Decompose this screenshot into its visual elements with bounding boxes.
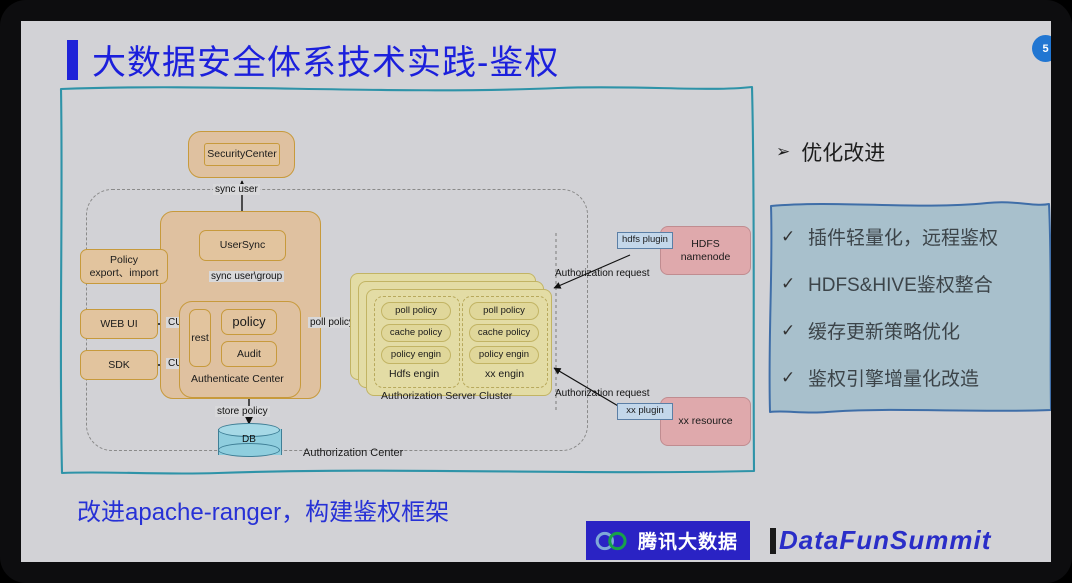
xx-engine-item-2: policy engin <box>469 346 539 364</box>
sdk-box: SDK <box>80 350 158 380</box>
check-icon: ✓ <box>781 227 808 247</box>
hdfs-engine-item-0: poll policy <box>381 302 451 320</box>
datafunsummit-text: DataFunSummit <box>779 525 991 556</box>
edge-label-poll-policy: poll policy <box>308 317 356 328</box>
xx-engine-item-1: cache policy <box>469 324 539 342</box>
hdfs-namenode-line2: namenode <box>681 251 731 263</box>
db-bottom <box>218 443 280 457</box>
branding-row: 腾讯大数据 DataFunSummit <box>586 521 991 560</box>
edge-label-sync-user-group: sync user\group <box>209 271 284 282</box>
page-title: 大数据安全体系技术实践-鉴权 <box>67 35 559 84</box>
policy-export-import-box: Policy export、import <box>80 249 168 284</box>
infinity-icon <box>594 530 630 552</box>
hdfs-engine-label: Hdfs engin <box>389 368 439 380</box>
right-panel-heading: ➢ 优化改进 <box>776 137 885 167</box>
slide-frame: 大数据安全体系技术实践-鉴权 5 Authorization Center Se… <box>0 0 1072 583</box>
edge-label-auth-request-bottom: Authorization request <box>553 388 652 399</box>
bullet-box: ✓ 插件轻量化，远程鉴权 ✓ HDFS&HIVE鉴权整合 ✓ 缓存更新策略优化 … <box>767 199 1051 414</box>
hdfs-namenode-line1: HDFS <box>691 238 720 250</box>
edge-label-sync-user: sync user <box>213 184 260 195</box>
audit-box: Audit <box>221 341 277 367</box>
user-sync-box: UserSync <box>199 230 286 261</box>
authenticate-center-label: Authenticate Center <box>191 373 284 385</box>
web-ui-box: WEB UI <box>80 309 158 339</box>
bullet-label: HDFS&HIVE鉴权整合 <box>808 270 993 297</box>
hdfs-namenode-box: HDFS namenode <box>660 226 751 275</box>
list-item: ✓ 缓存更新策略优化 <box>767 307 1051 354</box>
diagram-contents: Authorization Center SecurityCenter <box>58 83 755 475</box>
db-cylinder: DB <box>218 423 280 460</box>
rest-box: rest <box>189 309 211 367</box>
bullet-label: 鉴权引擎增量化改造 <box>808 364 979 391</box>
list-item: ✓ 插件轻量化，远程鉴权 <box>767 213 1051 260</box>
xx-resource-box: xx resource <box>660 397 751 446</box>
policy-io-line1: Policy <box>110 254 138 266</box>
policy-io-line2: export、import <box>90 267 159 279</box>
bullet-list: ✓ 插件轻量化，远程鉴权 ✓ HDFS&HIVE鉴权整合 ✓ 缓存更新策略优化 … <box>767 199 1051 414</box>
diagram-panel: Authorization Center SecurityCenter <box>58 83 755 475</box>
xx-engine-item-0: poll policy <box>469 302 539 320</box>
hdfs-engine-item-1: cache policy <box>381 324 451 342</box>
hdfs-engine-item-2: policy engin <box>381 346 451 364</box>
list-item: ✓ 鉴权引擎增量化改造 <box>767 354 1051 401</box>
check-icon: ✓ <box>781 368 808 388</box>
check-icon: ✓ <box>781 321 808 341</box>
title-accent-bar <box>67 40 78 80</box>
caption-text: 改进apache-ranger，构建鉴权框架 <box>77 492 449 527</box>
xx-plugin-label: xx plugin <box>617 403 673 420</box>
check-icon: ✓ <box>781 274 808 294</box>
right-panel-heading-label: 优化改进 <box>801 137 885 167</box>
hdfs-plugin-label: hdfs plugin <box>617 232 673 249</box>
list-item: ✓ HDFS&HIVE鉴权整合 <box>767 260 1051 307</box>
db-label: DB <box>218 434 280 445</box>
chevron-right-icon: ➢ <box>776 142 790 162</box>
tencent-logo-text: 腾讯大数据 <box>638 527 738 554</box>
tencent-bigdata-logo: 腾讯大数据 <box>586 521 750 560</box>
corner-badge: 5 <box>1032 35 1051 62</box>
slide-canvas: 大数据安全体系技术实践-鉴权 5 Authorization Center Se… <box>21 21 1051 562</box>
title-label: 大数据安全体系技术实践-鉴权 <box>92 35 559 84</box>
datafun-accent-bar <box>770 528 776 554</box>
bullet-label: 缓存更新策略优化 <box>808 317 960 344</box>
cluster-label: Authorization Server Cluster <box>381 390 512 402</box>
edge-label-auth-request-top: Authorization request <box>553 268 652 279</box>
xx-engine-label: xx engin <box>485 368 524 380</box>
bullet-label: 插件轻量化，远程鉴权 <box>808 223 998 250</box>
edge-label-store-policy: store policy <box>215 406 270 417</box>
policy-box: policy <box>221 309 277 335</box>
datafunsummit-logo: DataFunSummit <box>770 525 991 556</box>
